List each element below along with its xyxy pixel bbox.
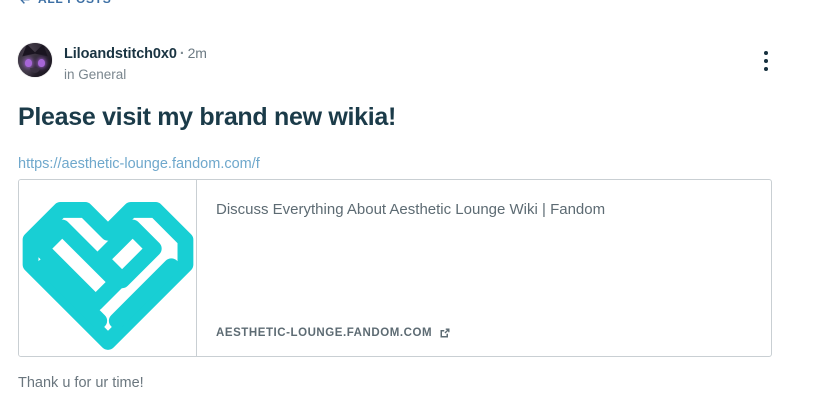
- forum-post-page: ALL POSTS Liloandstitch0x0·2m in General…: [0, 0, 819, 405]
- arrow-left-icon: [18, 0, 31, 6]
- link-preview-title: Discuss Everything About Aesthetic Loung…: [216, 200, 753, 220]
- post-title: Please visit my brand new wikia!: [18, 101, 396, 134]
- post-meta-primary: Liloandstitch0x0·2m: [64, 44, 207, 63]
- link-preview-card[interactable]: Discuss Everything About Aesthetic Loung…: [18, 179, 772, 357]
- post-meta: Liloandstitch0x0·2m in General: [64, 43, 207, 83]
- external-link-icon: [439, 327, 451, 339]
- post-meta-secondary: in General: [64, 66, 207, 83]
- back-to-all-posts-link[interactable]: ALL POSTS: [18, 0, 111, 6]
- back-to-all-posts-label: ALL POSTS: [38, 0, 111, 6]
- link-preview-domain-label: AESTHETIC-LOUNGE.FANDOM.COM: [216, 327, 432, 339]
- kebab-menu-icon[interactable]: [753, 46, 779, 76]
- meta-separator: ·: [180, 46, 185, 62]
- link-preview-domain: AESTHETIC-LOUNGE.FANDOM.COM: [216, 327, 451, 339]
- post-author-name[interactable]: Liloandstitch0x0: [64, 46, 177, 62]
- kebab-dot-2: [764, 59, 768, 63]
- avatar[interactable]: [18, 43, 52, 77]
- avatar-eye-left-icon: [25, 59, 32, 67]
- link-preview-body: Discuss Everything About Aesthetic Loung…: [197, 180, 771, 356]
- post-forum-name[interactable]: in General: [64, 67, 126, 82]
- avatar-eye-right-icon: [38, 59, 45, 67]
- post-body-link[interactable]: https://aesthetic-lounge.fandom.com/f: [18, 155, 260, 174]
- post-header: Liloandstitch0x0·2m in General: [18, 43, 207, 83]
- post-timestamp: 2m: [188, 45, 207, 61]
- fandom-heart-logo-icon: [20, 180, 196, 356]
- kebab-dot-3: [764, 67, 768, 71]
- link-preview-thumbnail: [19, 180, 197, 356]
- kebab-dot-1: [764, 51, 768, 55]
- post-outro-text: Thank u for ur time!: [18, 373, 144, 393]
